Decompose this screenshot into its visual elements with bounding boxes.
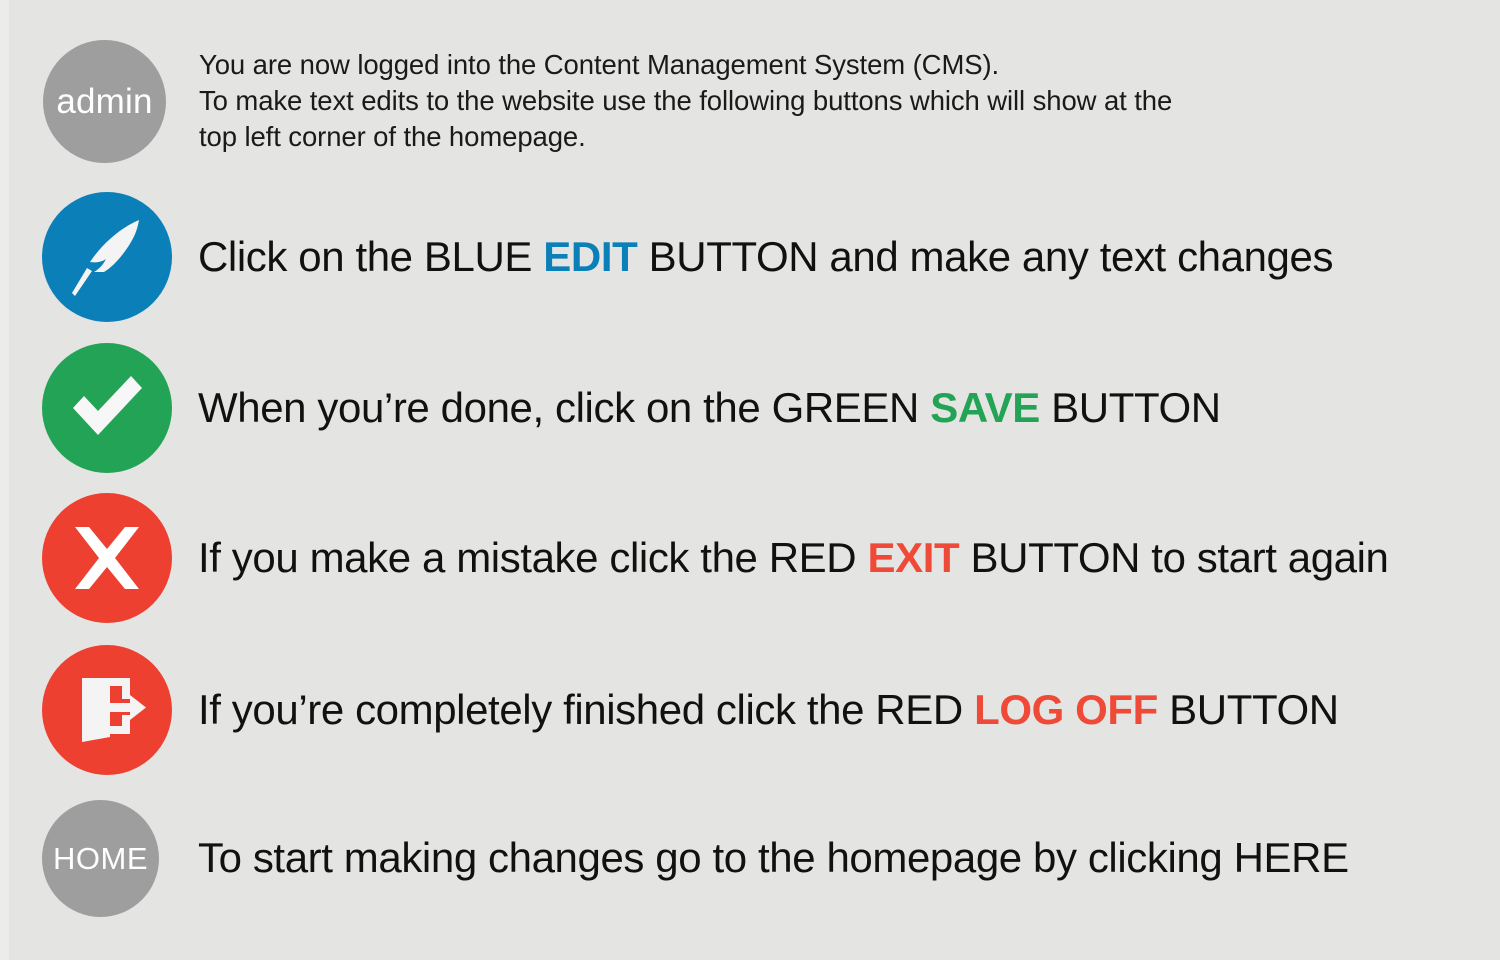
exit-door-arrow-icon[interactable] bbox=[42, 645, 172, 775]
logoff-text-after: BUTTON bbox=[1158, 686, 1339, 733]
instruction-text-exit: If you make a mistake click the RED EXIT… bbox=[198, 534, 1389, 582]
instruction-row-exit: If you make a mistake click the RED EXIT… bbox=[42, 492, 1389, 624]
edit-text-before: Click on the BLUE bbox=[198, 233, 543, 280]
instruction-text-logoff: If you’re completely finished click the … bbox=[198, 686, 1339, 734]
edit-keyword: EDIT bbox=[543, 233, 637, 280]
instruction-text-home: To start making changes go to the homepa… bbox=[198, 834, 1349, 882]
x-cross-icon[interactable] bbox=[42, 493, 172, 623]
checkmark-icon[interactable] bbox=[42, 343, 172, 473]
instruction-text-edit: Click on the BLUE EDIT BUTTON and make a… bbox=[198, 233, 1333, 281]
save-keyword: SAVE bbox=[930, 384, 1040, 431]
instruction-row-save: When you’re done, click on the GREEN SAV… bbox=[42, 342, 1221, 474]
instruction-row-logoff: If you’re completely finished click the … bbox=[42, 644, 1339, 776]
edit-text-after: BUTTON and make any text changes bbox=[637, 233, 1333, 280]
instruction-text-save: When you’re done, click on the GREEN SAV… bbox=[198, 384, 1221, 432]
admin-avatar-label: admin bbox=[56, 84, 152, 119]
left-edge-strip bbox=[0, 0, 9, 960]
intro-row: admin You are now logged into the Conten… bbox=[43, 40, 1172, 163]
save-text-after: BUTTON bbox=[1040, 384, 1221, 431]
exit-keyword: EXIT bbox=[868, 534, 960, 581]
logoff-text-before: If you’re completely finished click the … bbox=[198, 686, 974, 733]
logoff-keyword: LOG OFF bbox=[974, 686, 1158, 733]
exit-text-after: BUTTON to start again bbox=[959, 534, 1388, 581]
instruction-page: admin You are now logged into the Conten… bbox=[0, 0, 1500, 960]
quill-pen-icon[interactable] bbox=[42, 192, 172, 322]
intro-paragraph: You are now logged into the Content Mana… bbox=[199, 47, 1172, 155]
home-button-label: HOME bbox=[53, 843, 148, 874]
exit-text-before: If you make a mistake click the RED bbox=[198, 534, 868, 581]
home-button-icon[interactable]: HOME bbox=[42, 800, 159, 917]
save-text-before: When you’re done, click on the GREEN bbox=[198, 384, 930, 431]
instruction-row-home: HOME To start making changes go to the h… bbox=[42, 799, 1349, 917]
instruction-row-edit: Click on the BLUE EDIT BUTTON and make a… bbox=[42, 191, 1333, 323]
admin-avatar-icon[interactable]: admin bbox=[43, 40, 166, 163]
